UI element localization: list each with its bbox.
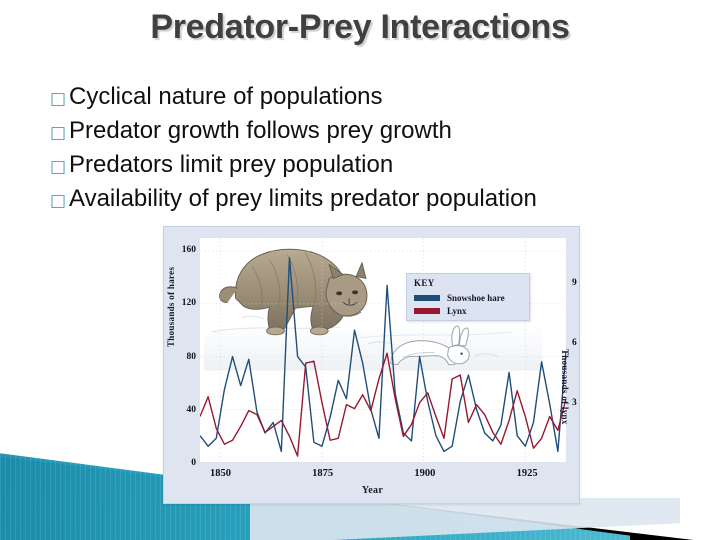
x-axis-tick: 1900 [402,468,448,479]
legend-entry-snowshoe-hare: Snowshoe hare [414,291,529,304]
y-axis-left-title: Thousands of hares [166,267,176,347]
list-item: □ Availability of prey limits predator p… [50,182,690,216]
chart-data-area [200,238,566,462]
list-item-label: Cyclical nature of populations [69,80,383,114]
square-bullet-icon: □ [50,184,69,218]
legend-entry-lynx: Lynx [414,304,529,317]
list-item-label: Predators limit prey population [69,148,393,182]
square-bullet-icon: □ [50,82,69,116]
legend-entry-label: Lynx [447,306,467,316]
y-axis-right-tick: 6 [572,338,594,348]
bullet-list: □ Cyclical nature of populations □ Preda… [50,80,690,216]
chart-figure: 04080120160 369 1850187519001925 Thousan… [163,226,580,504]
x-axis-title: Year [164,485,581,496]
legend-swatch-icon [414,308,440,314]
square-bullet-icon: □ [50,116,69,150]
list-item-label: Predator growth follows prey growth [69,114,452,148]
legend-entry-label: Snowshoe hare [447,293,505,303]
x-axis-tick: 1875 [300,468,346,479]
y-axis-left-tick: 120 [174,298,196,308]
legend-swatch-icon [414,295,440,301]
slide-canvas: Predator-Prey Interactions □ Cyclical na… [0,0,720,540]
page-title: Predator-Prey Interactions [0,8,720,47]
y-axis-left-tick: 0 [174,458,196,468]
list-item-label: Availability of prey limits predator pop… [69,182,537,216]
x-axis-tick: 1850 [197,468,243,479]
y-axis-left-tick: 160 [174,245,196,255]
y-axis-left-tick: 80 [174,352,196,362]
list-item: □ Cyclical nature of populations [50,80,690,114]
y-axis-right-tick: 3 [572,398,594,408]
y-axis-left-tick: 40 [174,405,196,415]
list-item: □ Predator growth follows prey growth [50,114,690,148]
y-axis-right-title: Thousands of lynx [560,349,570,425]
x-axis-tick: 1925 [504,468,550,479]
list-item: □ Predators limit prey population [50,148,690,182]
population-cycle-plot [200,238,566,462]
decorative-pale-wedge [250,498,680,540]
y-axis-right-tick: 9 [572,278,594,288]
chart-legend: KEY Snowshoe hare Lynx [406,273,530,321]
square-bullet-icon: □ [50,150,69,184]
legend-title: KEY [414,278,529,288]
